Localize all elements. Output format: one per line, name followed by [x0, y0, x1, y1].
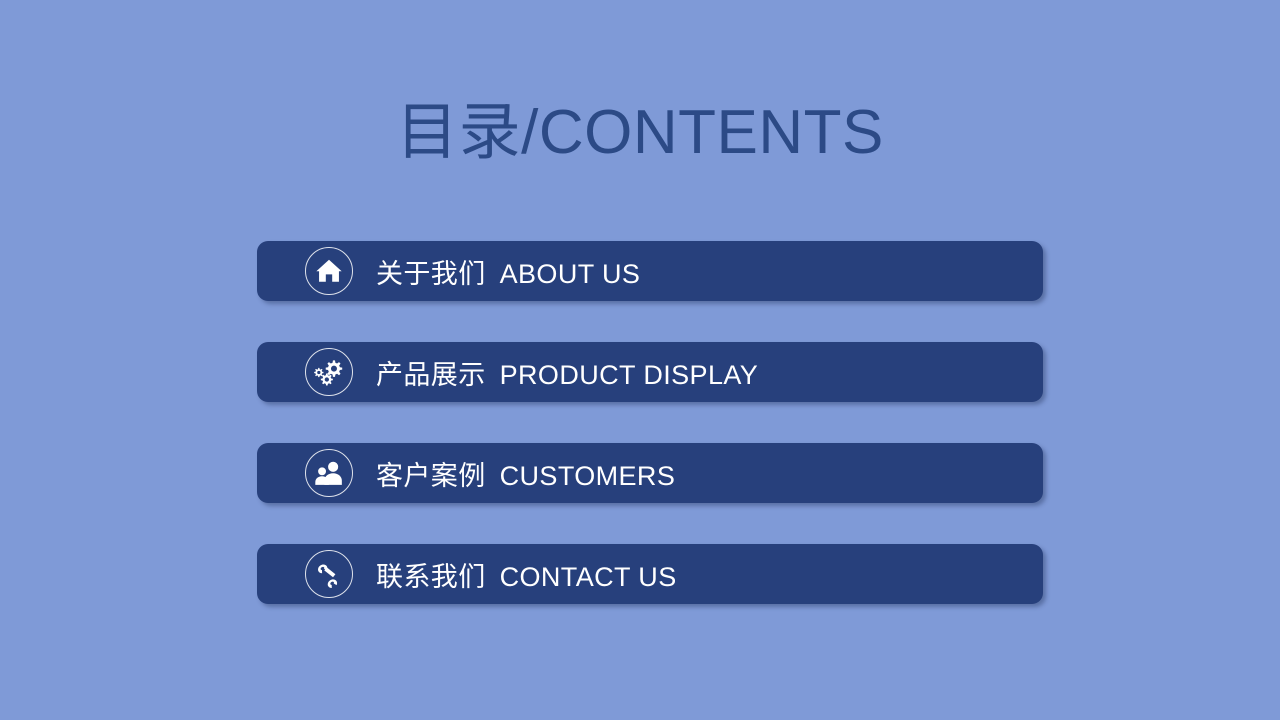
page-title: 目录/CONTENTS: [0, 99, 1280, 167]
menu-item-label-en: CUSTOMERS: [500, 461, 676, 491]
menu-item-label-zh: 关于我们: [376, 259, 486, 289]
contents-slide: 目录/CONTENTS 关于我们ABOUT US: [0, 0, 1280, 720]
menu-item-customers[interactable]: 客户案例CUSTOMERS: [257, 443, 1043, 503]
menu-item-label-zh: 产品展示: [376, 360, 486, 390]
menu-item-label-zh: 联系我们: [376, 562, 486, 592]
menu-item-label: 关于我们ABOUT US: [376, 252, 640, 291]
users-icon: [305, 449, 353, 497]
contents-menu: 关于我们ABOUT US 产品展示PRODUCT DISPLAY: [257, 241, 1043, 604]
phone-icon: [305, 550, 353, 598]
menu-item-about-us[interactable]: 关于我们ABOUT US: [257, 241, 1043, 301]
home-icon: [305, 247, 353, 295]
menu-item-contact-us[interactable]: 联系我们CONTACT US: [257, 544, 1043, 604]
menu-item-label: 产品展示PRODUCT DISPLAY: [376, 353, 758, 392]
menu-item-label-en: PRODUCT DISPLAY: [500, 360, 759, 390]
menu-item-product-display[interactable]: 产品展示PRODUCT DISPLAY: [257, 342, 1043, 402]
gears-icon: [305, 348, 353, 396]
menu-item-label-en: ABOUT US: [500, 259, 641, 289]
menu-item-label: 联系我们CONTACT US: [376, 555, 677, 594]
menu-item-label-zh: 客户案例: [376, 461, 486, 491]
menu-item-label-en: CONTACT US: [500, 562, 677, 592]
menu-item-label: 客户案例CUSTOMERS: [376, 454, 675, 493]
